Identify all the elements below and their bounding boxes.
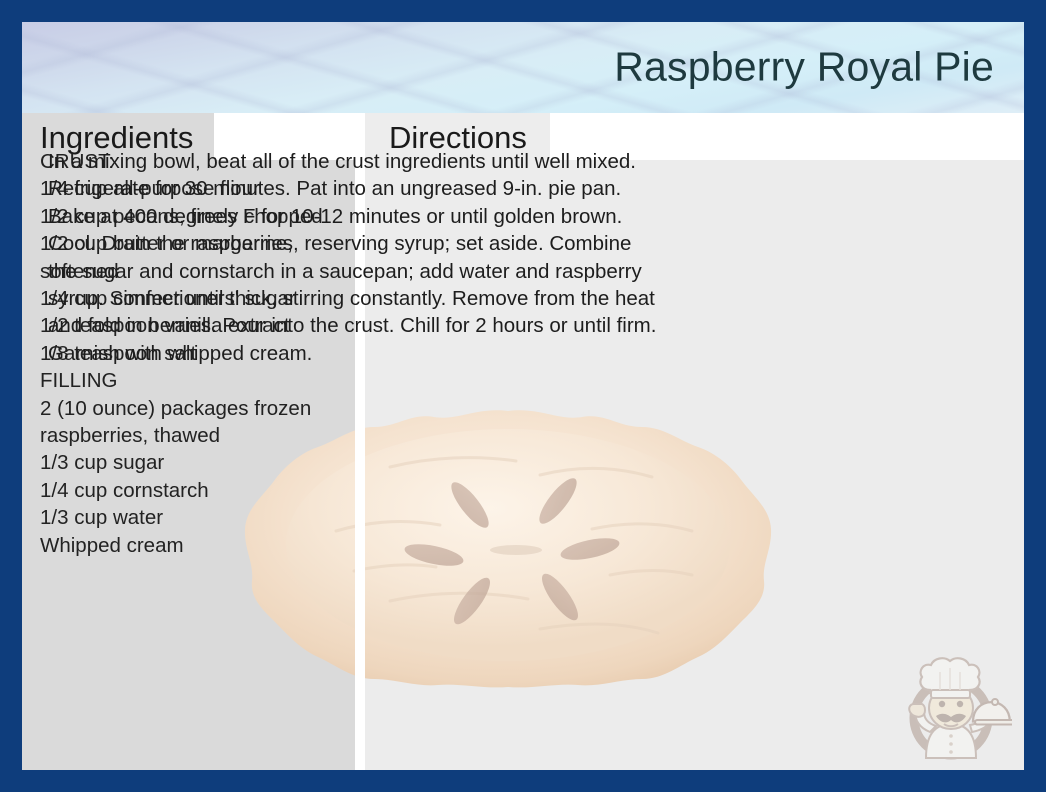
page-title: Raspberry Royal Pie bbox=[614, 43, 994, 90]
content-area: Ingredients Directions bbox=[22, 113, 1024, 770]
header-banner: Raspberry Royal Pie bbox=[22, 22, 1024, 113]
directions-text: In a mixing bowl, beat all of the crust … bbox=[48, 148, 659, 367]
recipe-card-frame: Raspberry Royal Pie Ingredients Directio… bbox=[0, 0, 1046, 792]
directions-body: In a mixing bowl, beat all of the crust … bbox=[22, 113, 681, 723]
